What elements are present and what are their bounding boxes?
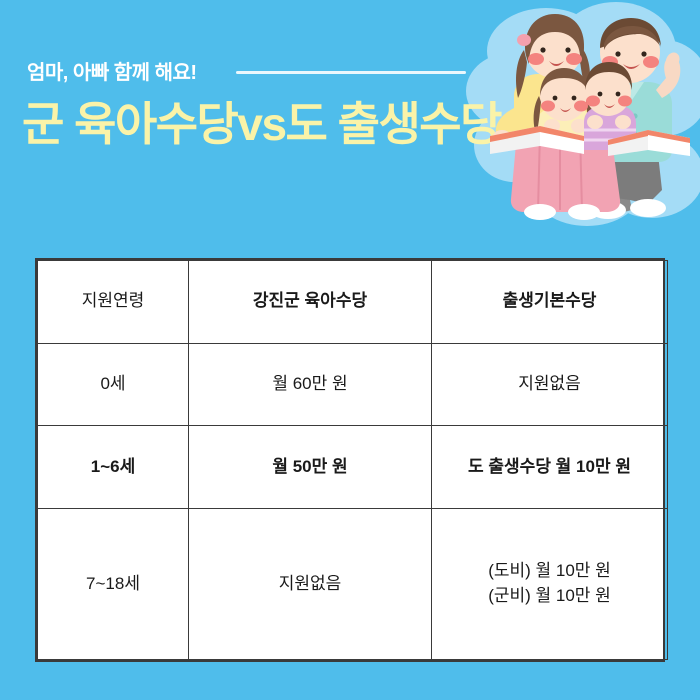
cell-province: 지원없음	[432, 343, 668, 426]
column-header-age: 지원연령	[38, 261, 189, 344]
cell-gun: 월 50만 원	[189, 426, 432, 509]
cell-age: 7~18세	[38, 508, 189, 659]
cell-gun: 지원없음	[189, 508, 432, 659]
table-row: 1~6세 월 50만 원 도 출생수당 월 10만 원	[38, 426, 668, 509]
tagline-divider	[236, 71, 466, 74]
table-row: 7~18세 지원없음 (도비) 월 10만 원 (군비) 월 10만 원	[38, 508, 668, 659]
cell-province: 도 출생수당 월 10만 원	[432, 426, 668, 509]
table-header-row: 지원연령 강진군 육아수당 출생기본수당	[38, 261, 668, 344]
cell-age: 1~6세	[38, 426, 189, 509]
family-reading-illustration	[480, 4, 700, 230]
cell-province-line2: (군비) 월 10만 원	[436, 584, 663, 609]
cell-gun: 월 60만 원	[189, 343, 432, 426]
table-row: 0세 월 60만 원 지원없음	[38, 343, 668, 426]
page-title: 군 육아수당vs도 출생수당	[22, 100, 501, 148]
column-header-province: 출생기본수당	[432, 261, 668, 344]
cell-age: 0세	[38, 343, 189, 426]
header-banner: 엄마, 아빠 함께 해요! 군 육아수당vs도 출생수당	[0, 0, 700, 240]
cell-province: (도비) 월 10만 원 (군비) 월 10만 원	[432, 508, 668, 659]
cell-province-line1: (도비) 월 10만 원	[436, 559, 663, 584]
column-header-gun: 강진군 육아수당	[189, 261, 432, 344]
tagline-text: 엄마, 아빠 함께 해요!	[27, 56, 197, 85]
benefit-comparison-table: 지원연령 강진군 육아수당 출생기본수당 0세 월 60만 원 지원없음 1~6…	[35, 258, 665, 662]
